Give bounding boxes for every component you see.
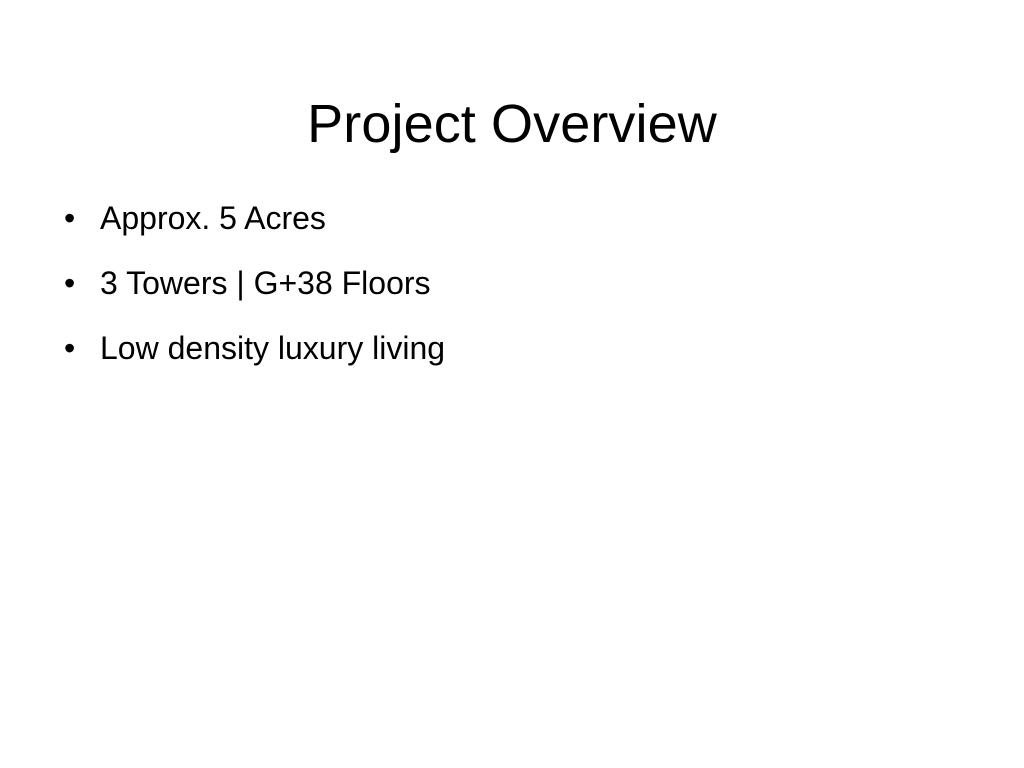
slide-content-body: • Approx. 5 Acres • 3 Towers | G+38 Floo… bbox=[56, 186, 968, 381]
bullet-list: • Approx. 5 Acres • 3 Towers | G+38 Floo… bbox=[56, 186, 968, 381]
list-item: • 3 Towers | G+38 Floors bbox=[56, 251, 968, 316]
list-item: • Low density luxury living bbox=[56, 316, 968, 381]
list-item-label: Low density luxury living bbox=[100, 330, 445, 366]
bullet-point-icon: • bbox=[64, 186, 86, 251]
list-item: • Approx. 5 Acres bbox=[56, 186, 968, 251]
list-item-label: 3 Towers | G+38 Floors bbox=[100, 265, 431, 301]
bullet-point-icon: • bbox=[64, 251, 86, 316]
bullet-point-icon: • bbox=[64, 316, 86, 381]
presentation-slide: Project Overview • Approx. 5 Acres • 3 T… bbox=[0, 0, 1024, 768]
list-item-label: Approx. 5 Acres bbox=[100, 200, 326, 236]
page-title: Project Overview bbox=[0, 94, 1024, 154]
